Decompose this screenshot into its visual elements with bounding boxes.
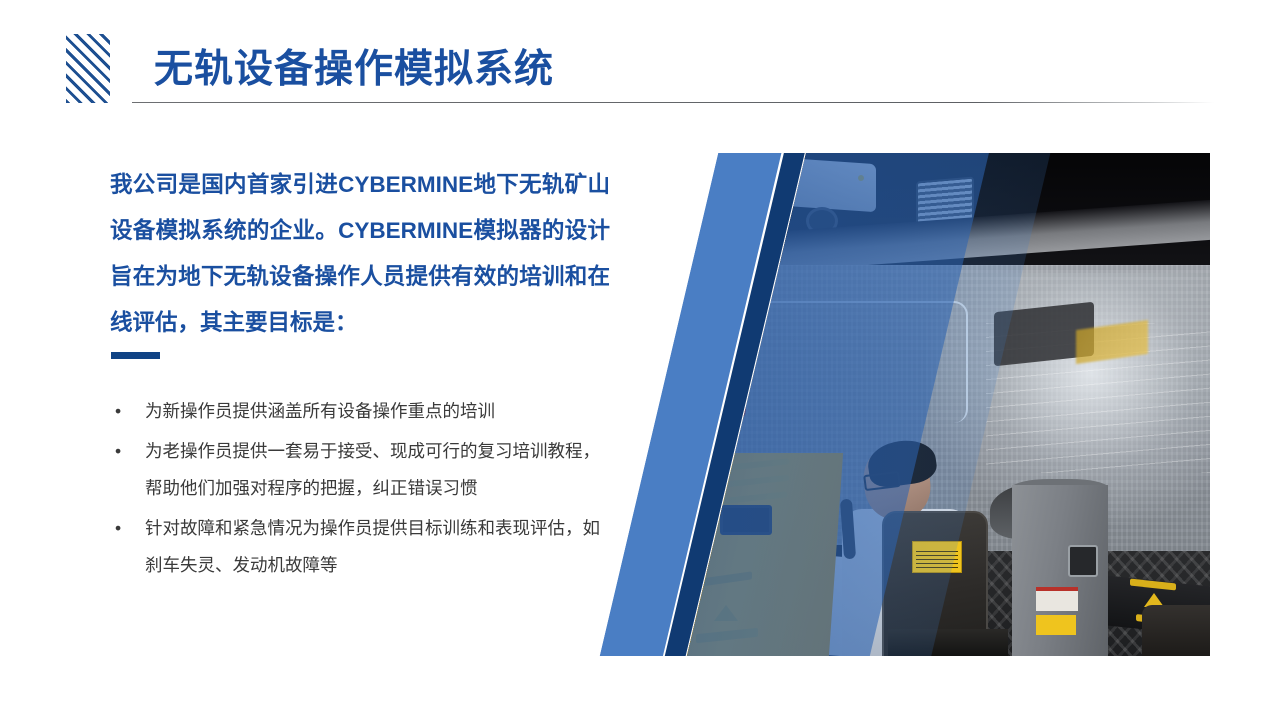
accent-bar [111,352,160,359]
photo-clip [596,153,1210,656]
photo-cabinet-label-white [1036,587,1078,611]
photo-control-stick-2 [621,405,638,471]
header-divider [132,102,1214,103]
list-item: • 为老操作员提供一套易于接受、现成可行的复习培训教程，帮助他们加强对程序的把握… [110,433,600,507]
bullet-dot-icon: • [115,510,121,547]
intro-paragraph: 我公司是国内首家引进CYBERMINE地下无轨矿山设备模拟系统的企业。CYBER… [110,162,610,346]
hatch-decoration-icon [66,34,110,103]
list-item: • 针对故障和紧急情况为操作员提供目标训练和表现评估，如刹车失灵、发动机故障等 [110,510,600,584]
content-column: 我公司是国内首家引进CYBERMINE地下无轨矿山设备模拟系统的企业。CYBER… [0,140,600,680]
photo-cabinet-label-yellow [1036,615,1076,635]
list-item: • 为新操作员提供涵盖所有设备操作重点的培训 [110,393,600,430]
objectives-list: • 为新操作员提供涵盖所有设备操作重点的培训 • 为老操作员提供一套易于接受、现… [110,393,600,587]
list-item-label: 为新操作员提供涵盖所有设备操作重点的培训 [145,401,495,421]
list-item-label: 针对故障和紧急情况为操作员提供目标训练和表现评估，如刹车失灵、发动机故障等 [145,518,600,575]
simulator-photo-panel [596,153,1210,656]
bullet-dot-icon: • [115,393,121,430]
page-title: 无轨设备操作模拟系统 [154,44,554,96]
slide-header: 无轨设备操作模拟系统 [0,0,1280,120]
photo-cabinet-port [1068,545,1098,577]
list-item-label: 为老操作员提供一套易于接受、现成可行的复习培训教程，帮助他们加强对程序的把握，纠… [145,441,600,498]
bullet-dot-icon: • [115,433,121,470]
photo-right-foreground [1142,605,1210,656]
